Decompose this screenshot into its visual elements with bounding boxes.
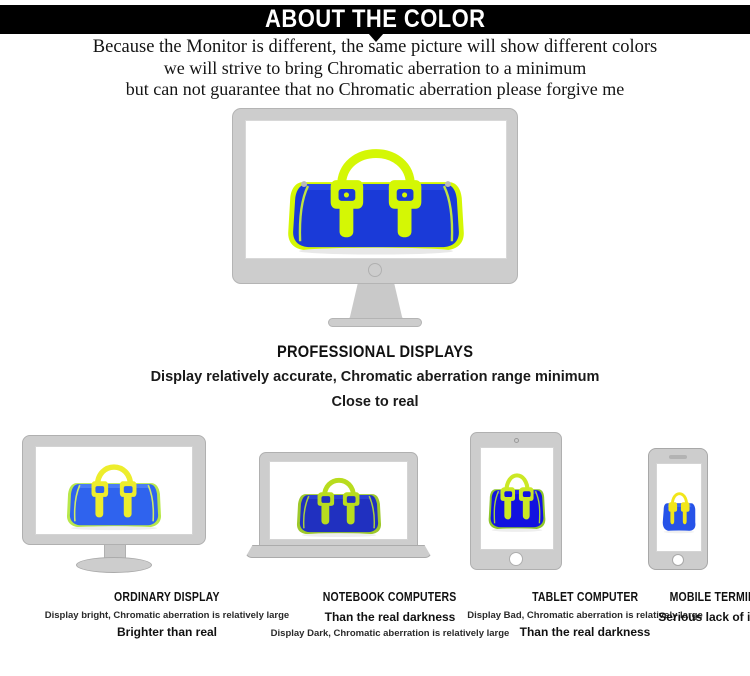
monitor-screen [245,120,507,259]
monitor-stand-base [76,557,152,573]
tablet-home-button[interactable] [509,552,523,566]
speaker-icon [669,455,687,459]
laptop-base [245,545,432,558]
professional-display-sub2: Close to real [0,394,750,410]
handbag-image-mobile [657,464,701,551]
caption-mobile-terminal: MOBILE TERMINAL Serious lack of image [560,588,750,624]
handbag-image-notebook [270,462,407,539]
phone-body [648,448,708,570]
monitor-stand-base [328,318,422,327]
monitor-stand-neck [349,284,403,321]
monitor-power-button [368,263,382,277]
intro-line-1: Because the Monitor is different, the sa… [0,37,750,58]
monitor-body [232,108,518,284]
laptop-lid [259,452,418,546]
device-captions: ORDINARY DISPLAY Display bright, Chromat… [0,588,750,648]
mobile-terminal-phone [648,448,708,570]
device-row [0,430,750,570]
monitor-body [22,435,206,545]
intro-line-3: but can not guarantee that no Chromatic … [0,79,750,100]
phone-home-button[interactable] [672,554,684,566]
handbag-image-tablet [481,448,553,549]
professional-display-sub1: Display relatively accurate, Chromatic a… [0,369,750,385]
mobile-terminal-sub1: Serious lack of image [560,610,750,624]
header-banner: ABOUT THE COLOR [0,5,750,34]
handbag-image-ordinary [36,447,192,534]
ordinary-display-monitor [22,435,206,569]
tablet-body [470,432,562,570]
mobile-terminal-title: MOBILE TERMINAL [670,590,750,604]
professional-display-title: PROFESSIONAL DISPLAYS [277,342,473,362]
intro-paragraph: Because the Monitor is different, the sa… [0,37,750,100]
page-title: ABOUT THE COLOR [265,5,485,34]
about-the-color-panel: ABOUT THE COLOR Because the Monitor is d… [0,0,750,676]
laptop-screen [269,461,408,540]
tablet-computer [470,432,562,570]
intro-line-2: we will strive to bring Chromatic aberra… [0,58,750,79]
tablet-screen [480,447,554,550]
tablet-computer-sub2: Than the real darkness [395,625,750,639]
notebook-computer [245,452,432,567]
monitor-screen [35,446,193,535]
camera-icon [514,438,519,443]
professional-display-monitor [232,108,518,334]
phone-screen [656,463,702,552]
professional-display-caption: PROFESSIONAL DISPLAYS Display relatively… [0,342,750,410]
handbag-image-professional [246,121,506,258]
